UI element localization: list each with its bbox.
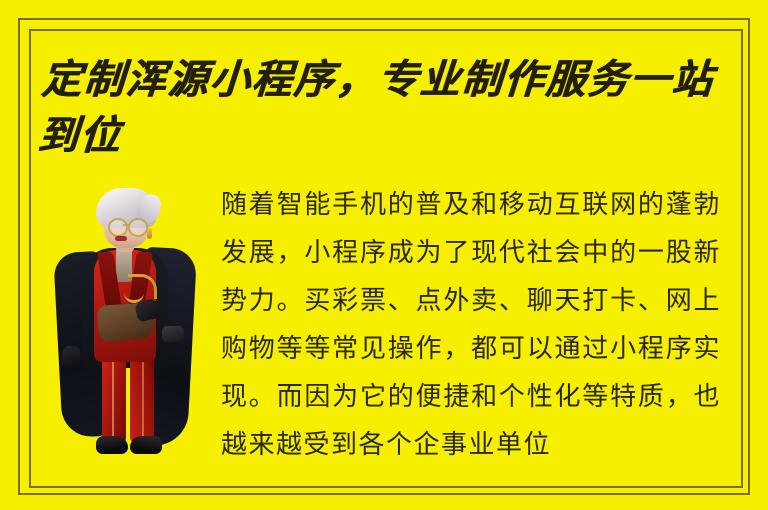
glasses-right-lens [128, 218, 148, 237]
coat-cuff [162, 326, 184, 342]
glasses-left-lens [108, 218, 128, 237]
right-shoe [130, 436, 162, 454]
lips [115, 236, 127, 241]
page-title: 定制浑源小程序，专业制作服务一站到位 [36, 52, 744, 164]
article-body: 随着智能手机的普及和移动互联网的蓬勃发展，小程序成为了现代社会中的一股新势力。买… [221, 181, 721, 463]
poster-canvas: 定制浑源小程序，专业制作服务一站到位 随着智能手机的普及和移动互联网的蓬勃发展，… [0, 0, 768, 510]
gold-chain-lower [124, 284, 144, 303]
earring [147, 228, 152, 239]
character-illustration [52, 188, 200, 466]
glasses-bridge [123, 224, 129, 226]
left-shoe [96, 436, 128, 454]
